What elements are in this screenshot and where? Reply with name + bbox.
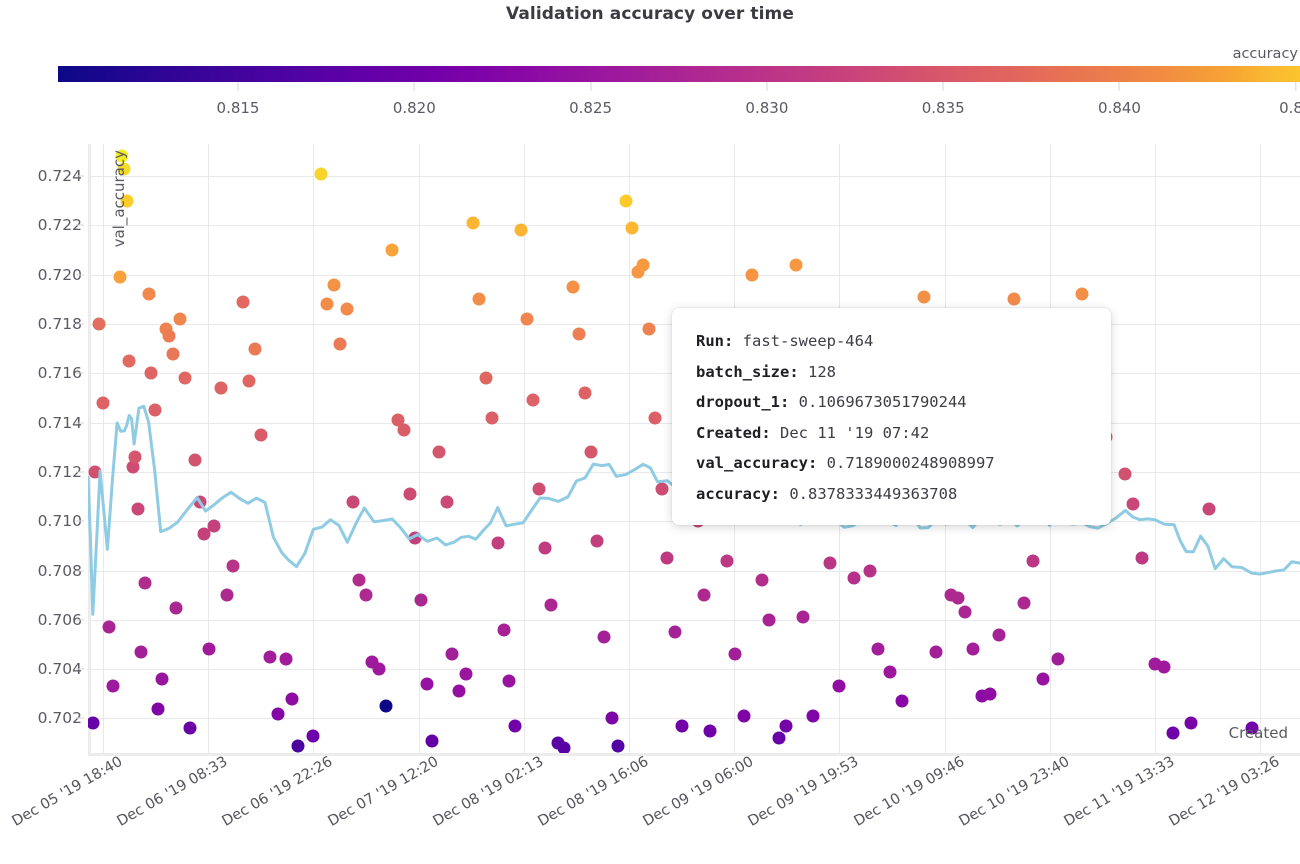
y-tick-mark (76, 669, 84, 670)
colorbar-tick: 0.825 (569, 82, 612, 117)
tooltip-key: val_accuracy: (696, 454, 817, 472)
colorbar-tick: 0.840 (1098, 82, 1141, 117)
colorbar-tick-mark (1119, 82, 1120, 91)
colorbar-tick-mark (766, 82, 767, 91)
x-tick-label: Dec 12 '19 03:26 (1167, 754, 1283, 830)
y-tick-label: 0.714 (2, 414, 82, 432)
colorbar-tick-label: 0.820 (393, 99, 436, 117)
colorbar-tick: 0.820 (393, 82, 436, 117)
tooltip-value: fast-sweep-464 (733, 332, 873, 350)
y-tick-mark (76, 619, 84, 620)
colorbar-tick-label: 0.840 (1098, 99, 1141, 117)
tooltip-key: accuracy: (696, 485, 780, 503)
y-tick-label: 0.720 (2, 266, 82, 284)
x-tick-label: Dec 10 '19 23:40 (956, 754, 1072, 830)
x-tick-label: Dec 11 '19 13:33 (1061, 754, 1177, 830)
colorbar-ticks: 0.8150.8200.8250.8300.8350.8400.84 (0, 82, 1300, 130)
y-tick-mark (76, 323, 84, 324)
x-tick-label: Dec 06 '19 22:26 (220, 754, 336, 830)
x-tick-label: Dec 10 '19 09:46 (851, 754, 967, 830)
colorbar-tick-mark (590, 82, 591, 91)
y-tick-mark (76, 422, 84, 423)
tooltip-row: batch_size: 128 (672, 357, 1111, 388)
tooltip-value: 0.8378333449363708 (780, 485, 957, 503)
x-axis-spine (88, 753, 1300, 756)
y-tick-label: 0.712 (2, 463, 82, 481)
run-tooltip: Run: fast-sweep-464batch_size: 128dropou… (672, 308, 1111, 525)
y-tick-label: 0.704 (2, 660, 82, 678)
y-tick-mark (76, 521, 84, 522)
y-tick-mark (76, 718, 84, 719)
colorbar-tick-label: 0.84 (1279, 99, 1300, 117)
x-tick-label: Dec 06 '19 08:33 (115, 754, 231, 830)
tooltip-key: batch_size: (696, 363, 799, 381)
x-tick-label: Dec 05 '19 18:40 (9, 754, 125, 830)
y-tick-label: 0.716 (2, 364, 82, 382)
tooltip-value: 0.1069673051790244 (789, 393, 966, 411)
page-title: Validation accuracy over time (0, 0, 1300, 28)
tooltip-row: val_accuracy: 0.7189000248908997 (672, 448, 1111, 479)
tooltip-row: Run: fast-sweep-464 (672, 326, 1111, 357)
y-tick-mark (76, 176, 84, 177)
y-tick-label: 0.718 (2, 315, 82, 333)
tooltip-key: dropout_1: (696, 393, 789, 411)
y-tick-mark (76, 471, 84, 472)
y-tick-label: 0.710 (2, 512, 82, 530)
y-tick-mark (76, 225, 84, 226)
tooltip-value: Dec 11 '19 07:42 (771, 424, 930, 442)
x-tick-label: Dec 08 '19 02:13 (430, 754, 546, 830)
y-tick-label: 0.706 (2, 611, 82, 629)
y-tick-label: 0.724 (2, 167, 82, 185)
colorbar-tick: 0.835 (922, 82, 965, 117)
colorbar-tick-mark (414, 82, 415, 91)
tooltip-value: 0.7189000248908997 (817, 454, 994, 472)
tooltip-key: Run: (696, 332, 733, 350)
x-tick-label: Dec 07 '19 12:20 (325, 754, 441, 830)
tooltip-value: 128 (799, 363, 836, 381)
y-tick-label: 0.708 (2, 562, 82, 580)
x-tick-label: Dec 09 '19 19:53 (746, 754, 862, 830)
colorbar-tick-mark (943, 82, 944, 91)
colorbar-label: accuracy (1233, 46, 1298, 62)
colorbar-gradient (58, 66, 1300, 82)
y-axis-label: val_accuracy (110, 150, 128, 247)
tooltip-key: Created: (696, 424, 771, 442)
y-tick-label: 0.722 (2, 216, 82, 234)
colorbar-tick-label: 0.830 (745, 99, 788, 117)
y-tick-mark (76, 373, 84, 374)
colorbar-tick-mark (1295, 82, 1296, 91)
x-tick-label: Dec 08 '19 16:06 (535, 754, 651, 830)
colorbar-tick-label: 0.815 (217, 99, 260, 117)
tooltip-row: dropout_1: 0.1069673051790244 (672, 387, 1111, 418)
colorbar-legend: accuracy 0.8150.8200.8250.8300.8350.8400… (0, 50, 1300, 130)
x-tick-label: Dec 09 '19 06:00 (641, 754, 757, 830)
colorbar-tick-label: 0.835 (922, 99, 965, 117)
colorbar-tick-label: 0.825 (569, 99, 612, 117)
tooltip-row: Created: Dec 11 '19 07:42 (672, 418, 1111, 449)
tooltip-row: accuracy: 0.8378333449363708 (672, 479, 1111, 510)
colorbar-tick: 0.84 (1279, 82, 1300, 117)
colorbar-tick: 0.830 (745, 82, 788, 117)
colorbar-tick-mark (237, 82, 238, 91)
y-tick-mark (76, 570, 84, 571)
y-tick-label: 0.702 (2, 709, 82, 727)
x-axis-label: Created (1229, 724, 1288, 742)
colorbar-tick: 0.815 (217, 82, 260, 117)
y-tick-mark (76, 274, 84, 275)
